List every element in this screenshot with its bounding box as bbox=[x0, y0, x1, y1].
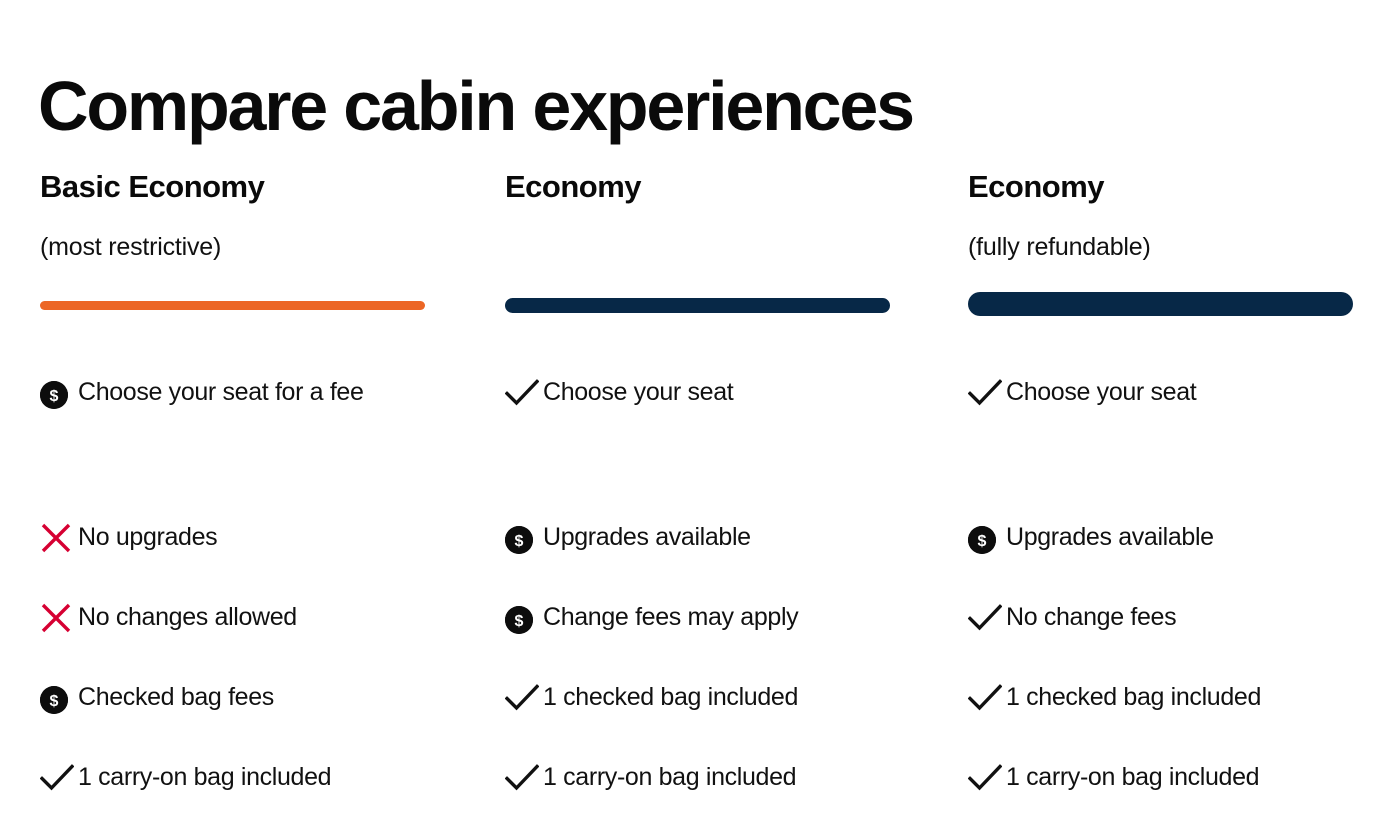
feature-label: Checked bag fees bbox=[76, 667, 274, 727]
cabin-column: Basic Economy(most restrictive)$Choose y… bbox=[40, 168, 440, 776]
feature-row: Choose your seat bbox=[968, 376, 1368, 422]
feature-row: $Upgrades available bbox=[968, 521, 1368, 567]
feature-icon-slot: $ bbox=[505, 603, 541, 637]
feature-icon-slot bbox=[968, 603, 1004, 637]
svg-text:$: $ bbox=[50, 693, 59, 710]
x-icon bbox=[40, 602, 72, 639]
feature-row: 1 carry-on bag included bbox=[968, 761, 1368, 807]
feature-label: 1 carry-on bag included bbox=[541, 747, 796, 807]
feature-label: Upgrades available bbox=[1004, 507, 1214, 567]
cabin-column: EconomyChoose your seat$Upgrades availab… bbox=[505, 168, 905, 776]
svg-text:$: $ bbox=[50, 388, 59, 405]
feature-row: 1 carry-on bag included bbox=[40, 761, 440, 807]
x-icon bbox=[40, 522, 72, 559]
page-title: Compare cabin experiences bbox=[38, 63, 913, 149]
dollar-icon: $ bbox=[505, 606, 533, 634]
cabin-column-subtitle: (most restrictive) bbox=[40, 231, 440, 263]
feature-icon-slot bbox=[968, 683, 1004, 717]
feature-row: 1 carry-on bag included bbox=[505, 761, 905, 807]
dollar-icon: $ bbox=[40, 381, 68, 409]
cabin-column-accent-bar bbox=[40, 301, 425, 310]
cabin-column: Economy(fully refundable)Choose your sea… bbox=[968, 168, 1358, 776]
feature-row: $Checked bag fees bbox=[40, 681, 440, 727]
check-icon bbox=[968, 603, 1002, 638]
cabin-column-header: Economy(fully refundable) bbox=[968, 168, 1358, 316]
svg-text:$: $ bbox=[515, 533, 524, 550]
feature-label: Upgrades available bbox=[541, 507, 751, 567]
svg-text:$: $ bbox=[978, 533, 987, 550]
feature-icon-slot bbox=[40, 763, 76, 797]
feature-label: Choose your seat for a fee bbox=[76, 362, 364, 422]
svg-text:$: $ bbox=[515, 613, 524, 630]
feature-row: No upgrades bbox=[40, 521, 440, 567]
feature-label: No change fees bbox=[1004, 587, 1176, 647]
feature-list: Choose your seat$Upgrades available$Chan… bbox=[505, 316, 905, 776]
feature-row: 1 checked bag included bbox=[505, 681, 905, 727]
cabin-column-header: Basic Economy(most restrictive) bbox=[40, 168, 440, 316]
cabin-column-title: Economy bbox=[505, 168, 905, 206]
feature-label: 1 carry-on bag included bbox=[1004, 747, 1259, 807]
check-icon bbox=[968, 683, 1002, 718]
feature-icon-slot: $ bbox=[505, 523, 541, 557]
feature-icon-slot bbox=[505, 378, 541, 412]
feature-icon-slot bbox=[505, 683, 541, 717]
feature-icon-slot bbox=[40, 603, 76, 637]
cabin-column-accent-bar bbox=[505, 298, 890, 313]
feature-label: 1 checked bag included bbox=[1004, 667, 1261, 727]
feature-label: Change fees may apply bbox=[541, 587, 798, 647]
feature-label: Choose your seat bbox=[541, 362, 733, 422]
cabin-column-subtitle: (fully refundable) bbox=[968, 231, 1358, 263]
feature-icon-slot bbox=[40, 523, 76, 557]
feature-label: No upgrades bbox=[76, 507, 217, 567]
feature-row: 1 checked bag included bbox=[968, 681, 1368, 727]
feature-row: $Choose your seat for a fee bbox=[40, 376, 440, 422]
check-icon bbox=[505, 378, 539, 413]
check-icon bbox=[505, 683, 539, 718]
cabin-column-title: Economy bbox=[968, 168, 1358, 206]
feature-label: 1 carry-on bag included bbox=[76, 747, 331, 807]
feature-row: No changes allowed bbox=[40, 601, 440, 647]
feature-icon-slot bbox=[968, 378, 1004, 412]
feature-label: No changes allowed bbox=[76, 587, 297, 647]
feature-label: 1 checked bag included bbox=[541, 667, 798, 727]
dollar-icon: $ bbox=[505, 526, 533, 554]
feature-icon-slot: $ bbox=[40, 683, 76, 717]
dollar-icon: $ bbox=[40, 686, 68, 714]
cabin-column-accent-bar bbox=[968, 292, 1353, 316]
cabin-column-header: Economy bbox=[505, 168, 905, 316]
check-icon bbox=[968, 378, 1002, 413]
check-icon bbox=[968, 763, 1002, 798]
check-icon bbox=[505, 763, 539, 798]
feature-label: Choose your seat bbox=[1004, 362, 1196, 422]
feature-row: $Change fees may apply bbox=[505, 601, 905, 647]
feature-icon-slot bbox=[968, 763, 1004, 797]
check-icon bbox=[40, 763, 74, 798]
feature-row: $Upgrades available bbox=[505, 521, 905, 567]
feature-icon-slot: $ bbox=[968, 523, 1004, 557]
feature-icon-slot bbox=[505, 763, 541, 797]
feature-row: Choose your seat bbox=[505, 376, 905, 422]
feature-list: $Choose your seat for a feeNo upgradesNo… bbox=[40, 316, 440, 776]
feature-list: Choose your seat$Upgrades availableNo ch… bbox=[968, 316, 1358, 776]
feature-row: No change fees bbox=[968, 601, 1368, 647]
cabin-column-title: Basic Economy bbox=[40, 168, 440, 206]
dollar-icon: $ bbox=[968, 526, 996, 554]
feature-icon-slot: $ bbox=[40, 378, 76, 412]
